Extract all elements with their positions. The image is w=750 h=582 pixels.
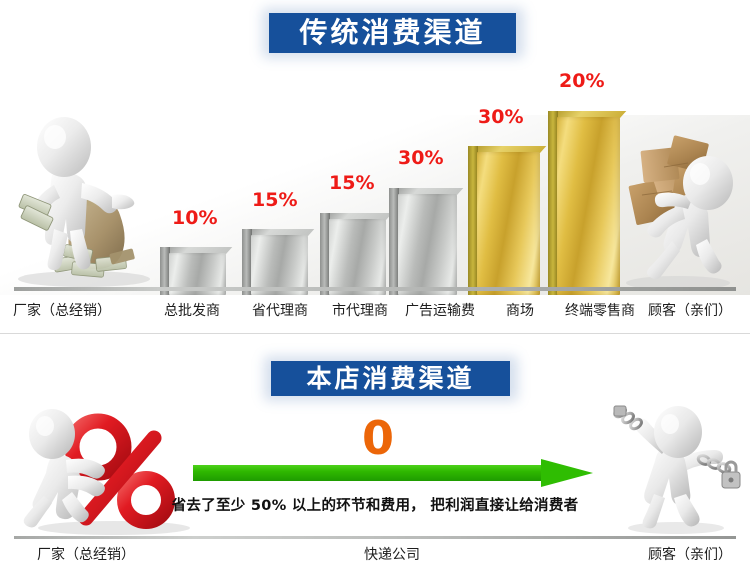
bar-label-3: 30% [398,147,443,169]
bar-front-face [398,194,457,295]
axis-label-city-agent: 市代理商 [332,300,388,320]
arrow-head-icon [541,459,593,487]
axis-label-wholesaler: 总批发商 [164,300,220,320]
axis-label-manufacturer: 厂家（总经销） [13,300,111,320]
bar-mall [468,146,540,295]
direct-channel-arrow [193,459,593,487]
bar-label-4: 30% [478,106,523,128]
bar-provincial-agent [242,229,308,295]
bottom-label-customer: 顾客（亲们） [648,544,732,564]
axis-label-mall: 商场 [506,300,534,320]
bottom-floor-line [14,536,736,539]
section-divider [0,333,750,334]
traditional-channel-banner: 传统消费渠道 [269,13,516,53]
bar-front-face [557,117,620,295]
bar-front-face [329,219,386,295]
figure-with-broken-chains [608,402,746,536]
bar-front-face [477,152,540,295]
savings-description: 省去了至少 50% 以上的环节和费用， 把利润直接让给消费者 [172,494,579,515]
customer-carrying-boxes-figure [612,133,748,293]
bar-label-5: 20% [559,70,604,92]
bar-city-agent [320,213,386,295]
bottom-label-courier: 快递公司 [364,544,420,564]
bar-terminal-retailer [548,111,620,295]
axis-label-customer: 顾客（亲们） [648,300,732,320]
axis-label-ad-transport: 广告运输费 [405,300,475,320]
bar-label-0: 10% [172,207,217,229]
manufacturer-with-money-figure [6,107,156,292]
axis-label-province-agent: 省代理商 [252,300,308,320]
store-channel-banner: 本店消费渠道 [271,361,510,396]
padlock-icon [722,462,740,488]
axis-label-retailer: 终端零售商 [565,300,635,320]
bar-ad-transport-cost [389,188,457,295]
infographic-page: 传统消费渠道 [0,0,750,582]
traditional-channel-chart: 10% 15% 15% 30% 30% [0,55,750,295]
zero-middlemen-label: 0 [362,415,394,461]
bar-label-1: 15% [252,189,297,211]
chart-floor-line [14,287,736,291]
arrow-shaft [193,465,545,481]
figure-pushing-percent-symbol [22,404,192,536]
bottom-label-manufacturer: 厂家（总经销） [37,544,135,564]
bar-label-2: 15% [329,172,374,194]
bar-front-face [251,235,308,295]
